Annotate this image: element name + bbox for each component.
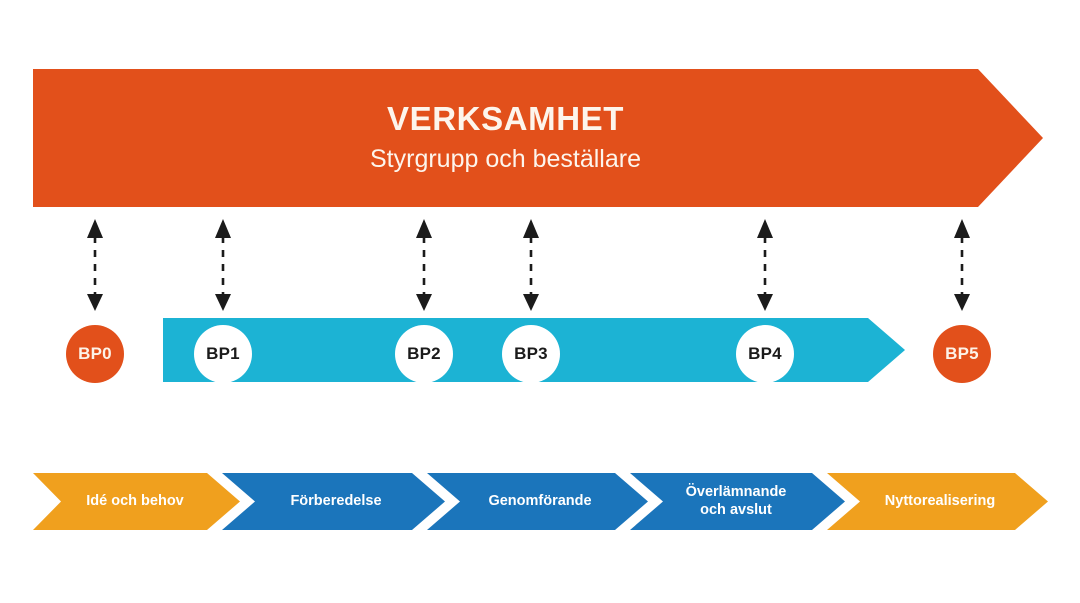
milestone-bp4-label: BP4	[748, 344, 782, 364]
phase-shape-genomforande	[427, 473, 648, 530]
phase-shape-nyttorealisering	[827, 473, 1048, 530]
phase-shape-overlamnande-och-avslut	[630, 473, 845, 530]
diagram-shape-layer	[0, 0, 1080, 603]
milestone-bp2[interactable]: BP2	[395, 325, 453, 383]
connector-bp1	[215, 219, 231, 311]
milestone-bp4[interactable]: BP4	[736, 325, 794, 383]
milestone-bp3-label: BP3	[514, 344, 548, 364]
phase-shape-forberedelse	[222, 473, 445, 530]
milestone-bp2-label: BP2	[407, 344, 441, 364]
milestone-bp0[interactable]: BP0	[66, 325, 124, 383]
milestone-bp0-label: BP0	[78, 344, 112, 364]
phase-shape-ide-och-behov	[33, 473, 240, 530]
milestone-bp1-label: BP1	[206, 344, 240, 364]
milestone-bp5-label: BP5	[945, 344, 979, 364]
milestone-bp3[interactable]: BP3	[502, 325, 560, 383]
connector-bp3	[523, 219, 539, 311]
connector-bp0	[87, 219, 103, 311]
milestone-bp5[interactable]: BP5	[933, 325, 991, 383]
connector-group	[87, 219, 970, 311]
connector-bp2	[416, 219, 432, 311]
milestone-bp1[interactable]: BP1	[194, 325, 252, 383]
process-diagram: VERKSAMHET Styrgrupp och beställare BP0 …	[0, 0, 1080, 603]
connector-bp4	[757, 219, 773, 311]
connector-bp5	[954, 219, 970, 311]
verksamhet-banner-shape	[33, 69, 1043, 207]
